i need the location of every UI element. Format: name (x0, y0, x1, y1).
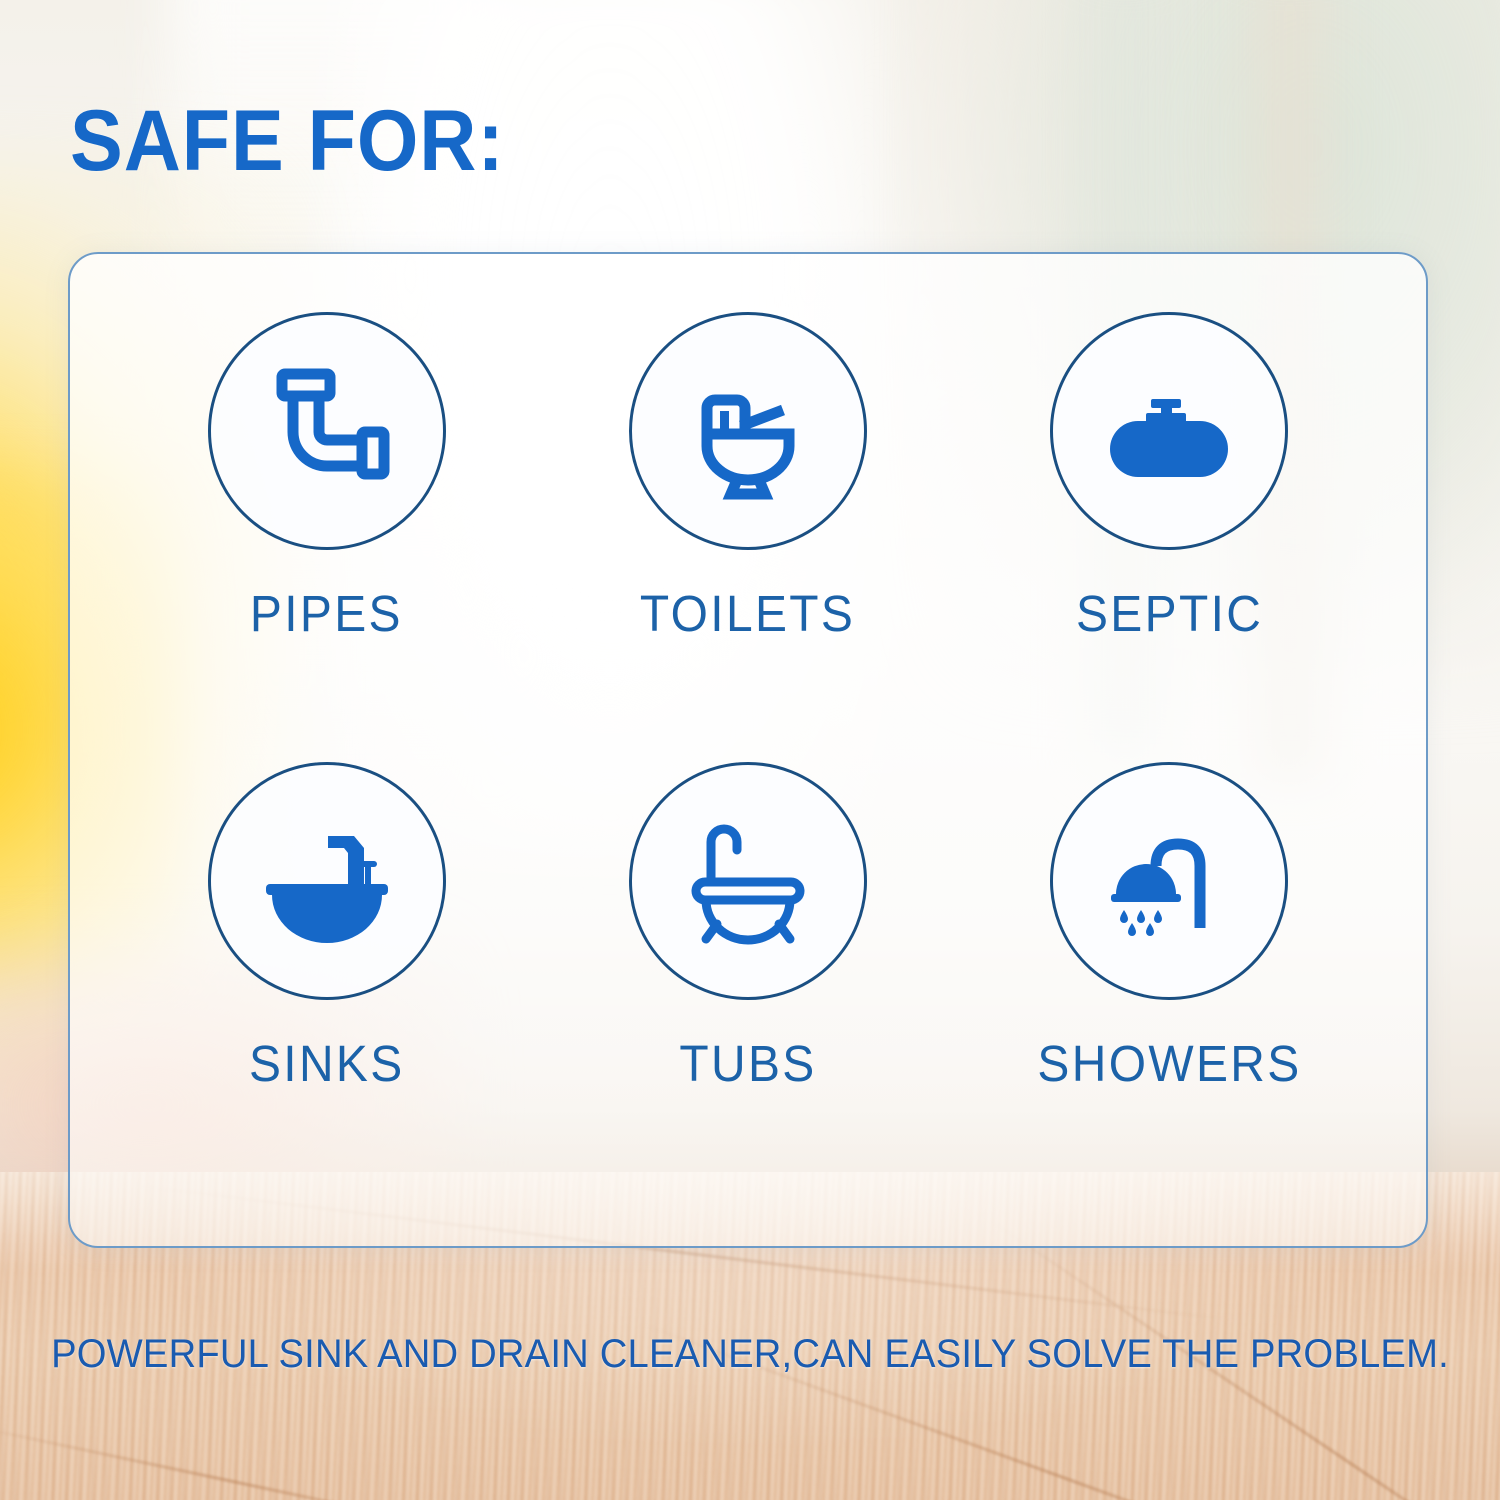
grid-item-toilets: TOILETS (537, 312, 958, 762)
footer-caption: POWERFUL SINK AND DRAIN CLEANER,CAN EASI… (34, 1332, 1467, 1377)
grid-item-label: TOILETS (640, 584, 855, 643)
sink-icon-badge (208, 762, 446, 1000)
page-title: SAFE FOR: (70, 92, 505, 191)
grid-item-label: SHOWERS (1037, 1034, 1301, 1093)
grid-item-showers: SHOWERS (959, 762, 1380, 1212)
grid-item-tubs: TUBS (537, 762, 958, 1212)
pipe-icon (252, 356, 402, 506)
infographic-canvas: SAFE FOR: PIPES (0, 0, 1500, 1500)
grid-item-pipes: PIPES (116, 312, 537, 762)
bathtub-icon-badge (629, 762, 867, 1000)
grid-item-label: SEPTIC (1076, 584, 1263, 643)
pipe-icon-badge (208, 312, 446, 550)
septic-tank-icon (1094, 356, 1244, 506)
grid-item-label: PIPES (250, 584, 403, 643)
grid-item-label: SINKS (249, 1034, 405, 1093)
bathtub-icon (673, 806, 823, 956)
safe-for-panel: PIPES TOILETS (68, 252, 1428, 1248)
grid-item-septic: SEPTIC (959, 312, 1380, 762)
grid-item-label: TUBS (679, 1034, 816, 1093)
sink-icon (252, 806, 402, 956)
icon-grid: PIPES TOILETS (70, 254, 1426, 1246)
shower-icon-badge (1050, 762, 1288, 1000)
grid-item-sinks: SINKS (116, 762, 537, 1212)
toilet-icon (673, 356, 823, 506)
shower-icon (1094, 806, 1244, 956)
septic-tank-icon-badge (1050, 312, 1288, 550)
toilet-icon-badge (629, 312, 867, 550)
